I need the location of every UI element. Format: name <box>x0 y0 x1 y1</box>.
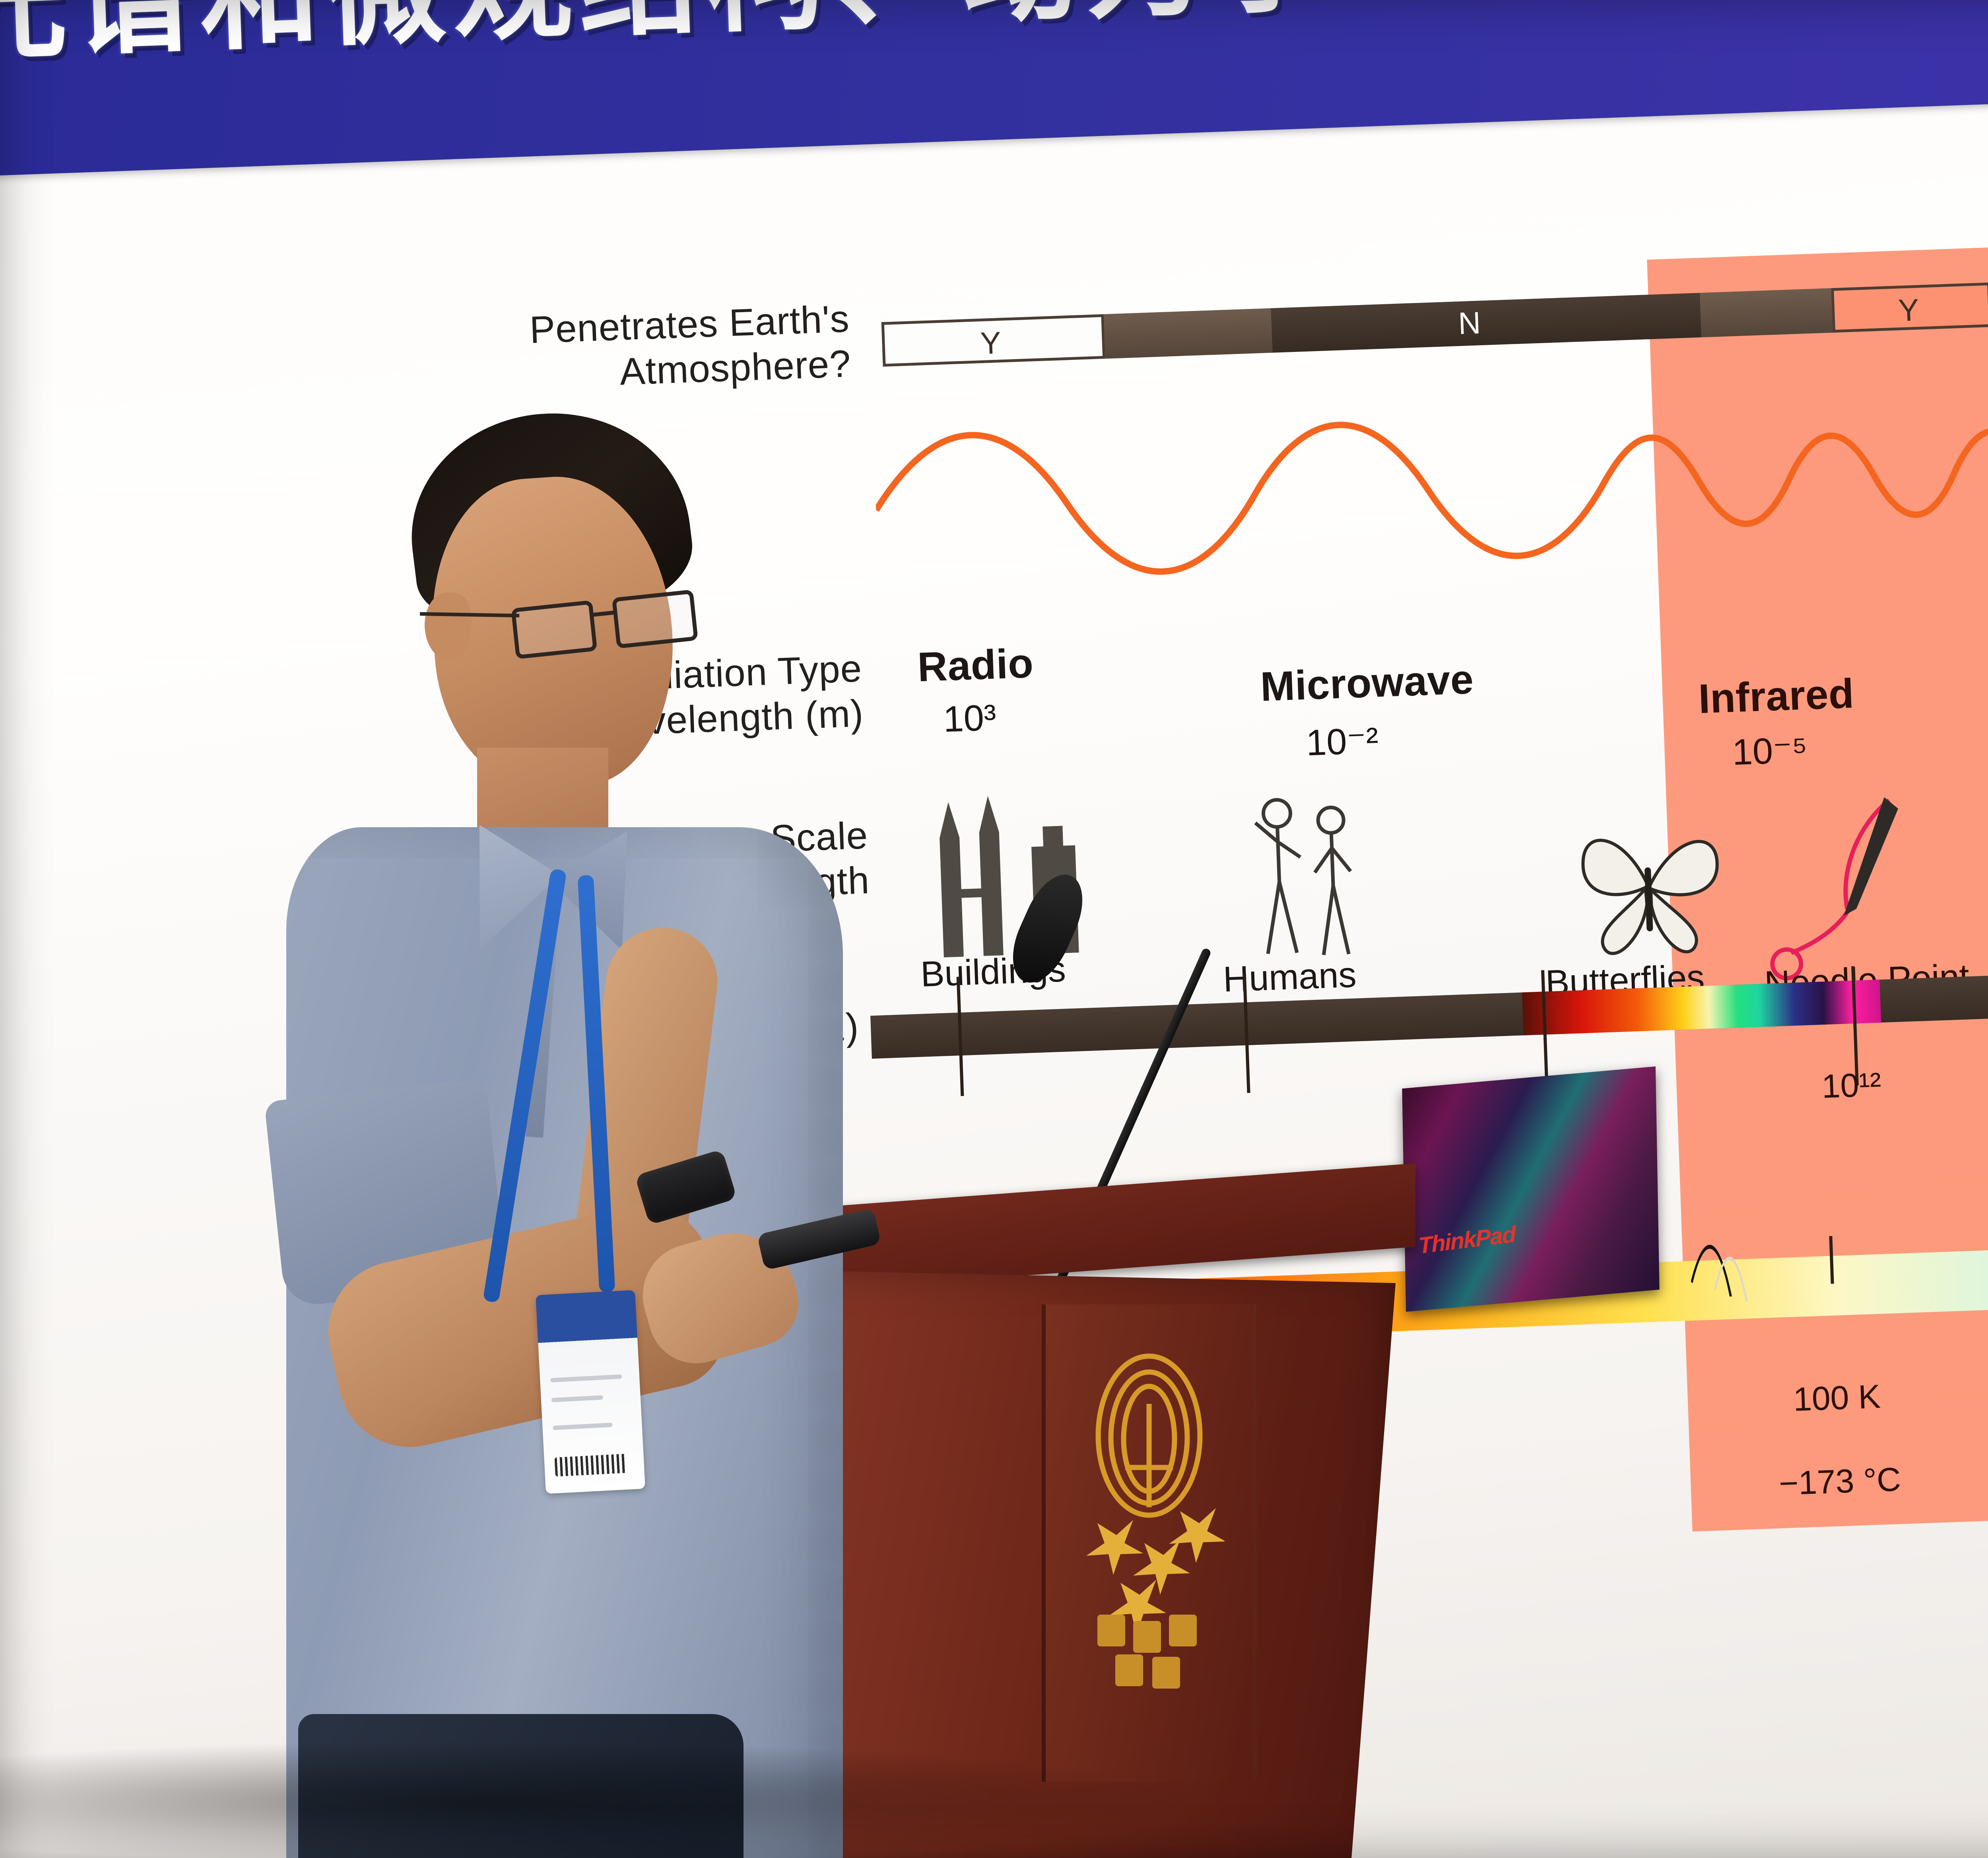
penetrates-segment: N <box>1271 293 1701 353</box>
podium-emblem-icon <box>1074 1336 1225 1694</box>
radiation-type-microwave: Microwave <box>1260 656 1474 711</box>
speaker-ear <box>425 593 472 660</box>
eyeglass-lens <box>511 600 597 659</box>
temperature-kelvin: 100 K <box>1793 1378 1881 1418</box>
eyeglass-lens <box>612 589 698 649</box>
penetrates-segment: Y <box>1831 282 1988 332</box>
slide-title-text: 光谱和微观结构、动力学 <box>0 0 1339 66</box>
badge-barcode <box>555 1454 627 1477</box>
radiation-type-infrared: Infrared <box>1698 670 1855 723</box>
speaker <box>239 406 954 1858</box>
humans-icon <box>1217 791 1390 964</box>
laptop[interactable]: ThinkPad <box>1402 1066 1659 1312</box>
conference-room-scene: 光谱和微观结构、动力学 Penetrates Earth's Atmospher… <box>0 0 1988 1858</box>
penetrates-letter: Y <box>980 325 1002 361</box>
badge-text-line <box>551 1395 603 1402</box>
eyeglass-bridge <box>591 610 615 617</box>
laptop-brand-logo: ThinkPad <box>1417 1221 1516 1259</box>
penetrates-segment <box>1700 288 1833 338</box>
wavelength-infrared: 10⁻⁵ <box>1732 728 1808 774</box>
penetrates-segment: Y <box>881 314 1106 367</box>
frequency-label: 10¹² <box>1821 1065 1882 1106</box>
badge-text-line <box>550 1374 622 1382</box>
penetrates-segment <box>1104 308 1272 359</box>
penetrates-letter: N <box>1458 305 1481 342</box>
badge-text-line <box>553 1423 612 1430</box>
row-label-penetrates: Penetrates Earth's Atmosphere? <box>380 296 852 403</box>
wavelength-microwave: 10⁻² <box>1305 719 1379 764</box>
floor-shadow <box>0 1742 1193 1858</box>
conference-badge <box>536 1290 645 1494</box>
butterfly-icon <box>1567 806 1732 967</box>
temperature-celsius: −173 °C <box>1778 1460 1901 1502</box>
electromagnetic-waveform <box>872 324 1988 637</box>
temperature-label: 100 K −173 °C <box>1741 1332 1934 1506</box>
penetrates-letter: Y <box>1898 292 1920 329</box>
